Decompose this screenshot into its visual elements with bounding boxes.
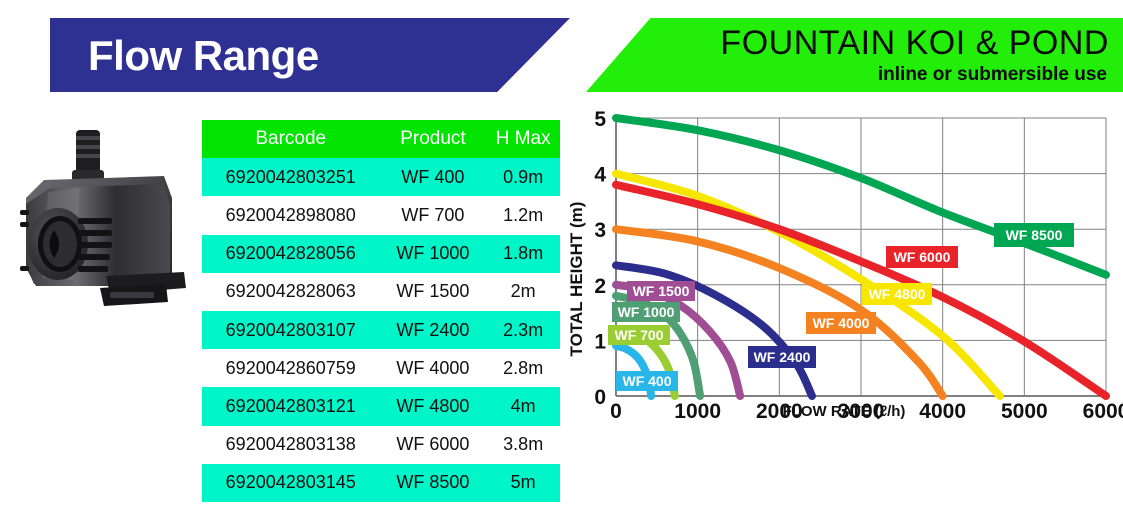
y-tick-label: 5	[594, 108, 606, 131]
y-tick-label: 1	[594, 330, 606, 353]
brand-tagline: inline or submersible use	[878, 64, 1107, 86]
curve-label-text: WF 700	[614, 327, 663, 343]
cell-product: WF 1000	[379, 235, 486, 273]
cell-hmax: 2.3m	[486, 311, 560, 349]
cell-barcode: 6920042803145	[202, 464, 379, 502]
y-tick-label: 2	[594, 275, 606, 298]
curve-label-text: WF 4000	[813, 315, 870, 331]
chart-svg: 012345 0100020003000400050006000 WF 400W…	[566, 104, 1123, 422]
table-row: 6920042803251 WF 400 0.9m	[202, 158, 560, 196]
pump-illustration	[14, 126, 190, 316]
y-tick-label: 0	[594, 386, 606, 409]
table-body: 6920042803251 WF 400 0.9m 6920042898080 …	[202, 158, 560, 502]
curve-label-text: WF 8500	[1006, 227, 1063, 243]
curve-label-text: WF 4800	[869, 286, 926, 302]
curve-label: WF 1500	[627, 281, 695, 301]
table-row: 6920042803121 WF 4800 4m	[202, 387, 560, 425]
x-tick-label: 1000	[674, 400, 721, 422]
table-header-row: Barcode Product H Max	[202, 120, 560, 158]
performance-chart: 012345 0100020003000400050006000 WF 400W…	[566, 104, 1123, 422]
cell-barcode: 6920042803121	[202, 387, 379, 425]
x-tick-label: 6000	[1083, 400, 1123, 422]
cell-hmax: 1.2m	[486, 196, 560, 234]
cell-product: WF 4800	[379, 387, 486, 425]
title-banner: Flow Range	[50, 18, 570, 92]
curve-label: WF 1000	[612, 302, 680, 322]
curve-label: WF 400	[616, 371, 678, 391]
curve-label: WF 2400	[748, 346, 816, 368]
curve-labels: WF 400WF 700WF 1000WF 1500WF 2400WF 4000…	[608, 223, 1074, 391]
curve-label: WF 8500	[994, 223, 1074, 247]
cell-hmax: 2m	[486, 273, 560, 311]
page-header: Flow Range FOUNTAIN KOI & POND inline or…	[0, 0, 1123, 100]
curve-label-text: WF 1500	[633, 283, 690, 299]
y-tick-label: 4	[594, 164, 606, 187]
cell-barcode: 6920042828056	[202, 235, 379, 273]
cell-product: WF 4000	[379, 349, 486, 387]
curve-label: WF 700	[608, 325, 670, 345]
curve-label: WF 4800	[862, 283, 932, 305]
table-row: 6920042803138 WF 6000 3.8m	[202, 426, 560, 464]
curve-label-text: WF 400	[622, 373, 671, 389]
curve-label-text: WF 2400	[754, 349, 811, 365]
cell-barcode: 6920042803107	[202, 311, 379, 349]
curve-label: WF 6000	[886, 246, 958, 268]
cell-product: WF 700	[379, 196, 486, 234]
table-row: 6920042803107 WF 2400 2.3m	[202, 311, 560, 349]
cell-barcode: 6920042898080	[202, 196, 379, 234]
page-title: Flow Range	[88, 32, 319, 80]
cell-barcode: 6920042803251	[202, 158, 379, 196]
table-row: 6920042860759 WF 4000 2.8m	[202, 349, 560, 387]
x-tick-label: 4000	[919, 400, 966, 422]
column-header-hmax: H Max	[486, 120, 560, 158]
column-header-product: Product	[379, 120, 486, 158]
cell-product: WF 2400	[379, 311, 486, 349]
cell-barcode: 6920042828063	[202, 273, 379, 311]
y-tick-label: 3	[594, 219, 606, 242]
table-row: 6920042828056 WF 1000 1.8m	[202, 235, 560, 273]
specifications-table: Barcode Product H Max 6920042803251 WF 4…	[202, 120, 560, 502]
cell-barcode: 6920042860759	[202, 349, 379, 387]
cell-hmax: 4m	[486, 387, 560, 425]
cell-hmax: 3.8m	[486, 426, 560, 464]
product-photo	[14, 126, 190, 316]
brand-banner: FOUNTAIN KOI & POND inline or submersibl…	[586, 18, 1123, 92]
cell-product: WF 8500	[379, 464, 486, 502]
cell-product: WF 1500	[379, 273, 486, 311]
x-axis-title: FLOW RATE (ℓ/h)	[783, 403, 906, 420]
curve-label: WF 4000	[806, 312, 876, 334]
cell-hmax: 2.8m	[486, 349, 560, 387]
curve-label-text: WF 6000	[894, 249, 951, 265]
x-tick-label: 0	[610, 400, 622, 422]
cell-hmax: 5m	[486, 464, 560, 502]
cell-hmax: 1.8m	[486, 235, 560, 273]
y-axis-ticks: 012345	[594, 108, 606, 409]
cell-product: WF 400	[379, 158, 486, 196]
curve-label-text: WF 1000	[618, 304, 675, 320]
column-header-barcode: Barcode	[202, 120, 379, 158]
x-tick-label: 5000	[1001, 400, 1048, 422]
table-row: 6920042803145 WF 8500 5m	[202, 464, 560, 502]
table-row: 6920042828063 WF 1500 2m	[202, 273, 560, 311]
table-row: 6920042898080 WF 700 1.2m	[202, 196, 560, 234]
cell-product: WF 6000	[379, 426, 486, 464]
cell-barcode: 6920042803138	[202, 426, 379, 464]
y-axis-title: TOTAL HEIGHT (m)	[567, 202, 586, 357]
brand-name: FOUNTAIN KOI & POND	[720, 24, 1109, 63]
cell-hmax: 0.9m	[486, 158, 560, 196]
